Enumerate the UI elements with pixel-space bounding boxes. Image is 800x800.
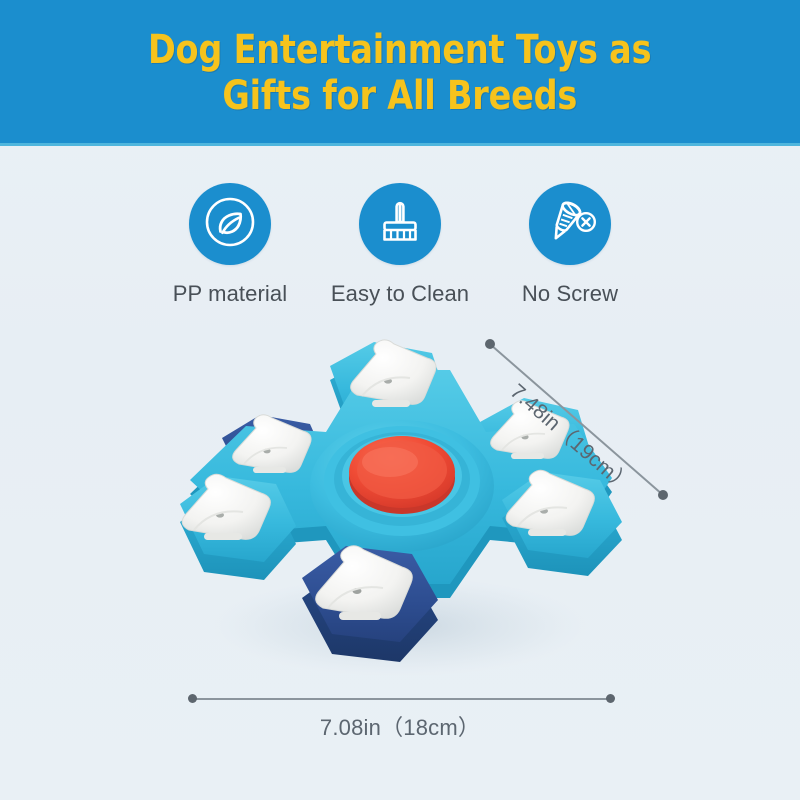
center-red-button (349, 436, 455, 514)
feature-label: No Screw (522, 281, 618, 307)
dimension-endpoint-left (188, 694, 197, 703)
dimension-width-label: 7.08in（18cm） (150, 710, 650, 742)
screw-no-icon (541, 194, 599, 255)
feature-badge-circle (529, 183, 611, 265)
feature-badge-circle (189, 183, 271, 265)
feature-easy-to-clean: Easy to Clean (320, 183, 480, 307)
dimension-endpoint-right (606, 694, 615, 703)
infographic-page: Dog Entertainment Toys as Gifts for All … (0, 0, 800, 800)
feature-label: PP material (173, 281, 287, 307)
center-hub (310, 420, 494, 552)
dimension-diagonal (470, 322, 690, 517)
page-title-line-1: Dog Entertainment Toys as (148, 27, 651, 73)
feature-list: PP material Easy to Clean (150, 183, 650, 307)
dimension-line (192, 698, 610, 700)
feature-label: Easy to Clean (331, 281, 469, 307)
header-banner: Dog Entertainment Toys as Gifts for All … (0, 0, 800, 146)
feature-no-screw: No Screw (490, 183, 650, 307)
leaf-icon (202, 194, 258, 255)
dimension-width: 7.08in（18cm） (150, 684, 650, 736)
feature-pp-material: PP material (150, 183, 310, 307)
broom-icon (372, 194, 428, 255)
feature-badge-circle (359, 183, 441, 265)
page-title-line-2: Gifts for All Breeds (223, 73, 578, 119)
